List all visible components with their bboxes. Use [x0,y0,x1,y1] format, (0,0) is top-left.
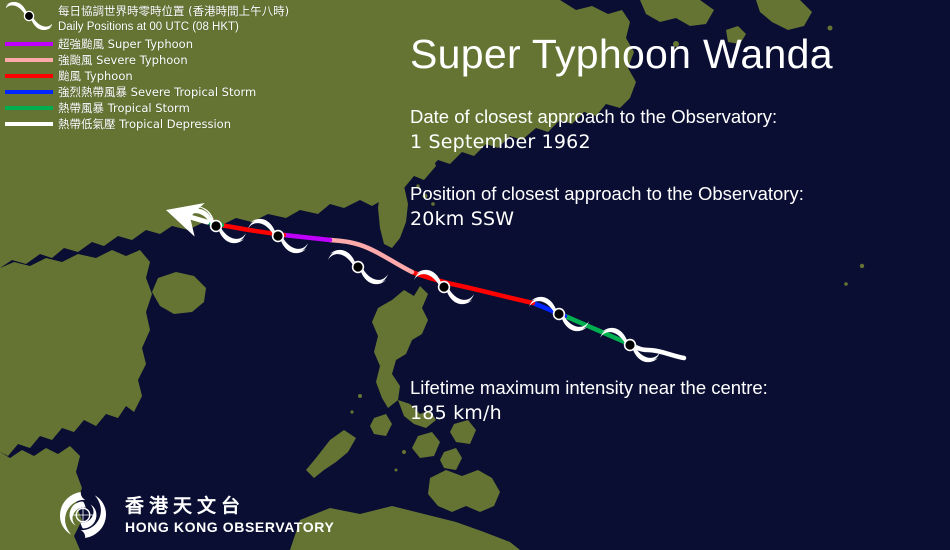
legend-swatch-cell [0,42,58,46]
legend-item-severe-tropical-storm[interactable]: 強烈熱帶風暴 Severe Tropical Storm [0,84,365,100]
legend-item-label-en: Severe Typhoon [96,53,187,67]
legend-item-label-en: Super Typhoon [108,37,193,51]
legend-item-label: 超強颱風 Super Typhoon [58,37,193,52]
legend-item-tropical-depression[interactable]: 熱帶低氣壓 Tropical Depression [0,116,365,132]
legend-item-label-cn: 強颱風 [58,53,93,67]
tropical-cyclone-icon [6,2,52,30]
land-islet-spratly-1 [358,394,362,398]
land-islet-spratly-3 [402,450,406,454]
legend-panel: 每日協調世界時零時位置 (香港時間上午八時) Daily Positions a… [0,0,365,136]
legend-row-daily-positions: 每日協調世界時零時位置 (香港時間上午八時) Daily Positions a… [0,2,365,36]
page-title: Super Typhoon Wanda [410,30,940,78]
legend-item-label-en: Severe Tropical Storm [131,85,257,99]
legend-swatch-cell [0,90,58,94]
legend-item-typhoon[interactable]: 颱風 Typhoon [0,68,365,84]
legend-color-swatch [5,42,53,46]
legend-daily-positions-label-cn: 每日協調世界時零時位置 (香港時間上午八時) [58,3,289,19]
closest-approach-position-value: 20km SSW [410,206,940,232]
legend-swatch-cell [0,2,58,30]
legend-color-swatch [5,106,53,110]
legend-color-swatch [5,58,53,62]
legend-item-label: 熱帶風暴 Tropical Storm [58,101,190,116]
legend-swatch-cell [0,106,58,110]
legend-item-label-en: Tropical Depression [119,117,231,131]
closest-approach-date-block: Date of closest approach to the Observat… [410,104,940,155]
closest-approach-date-value: 1 September 1962 [410,129,940,155]
legend-item-label-cn: 超強颱風 [58,37,104,51]
land-islet-spratly-2 [350,410,353,413]
hko-branding: 香港天文台 HONG KONG OBSERVATORY [55,487,334,543]
legend-swatch-cell [0,122,58,126]
typhoon-track-map: 每日協調世界時零時位置 (香港時間上午八時) Daily Positions a… [0,0,950,550]
hko-name-group: 香港天文台 HONG KONG OBSERVATORY [125,495,334,536]
legend-color-swatch [5,122,53,126]
land-ryukyu-islet-4 [860,264,864,268]
legend-daily-positions-label-en: Daily Positions at 00 UTC (08 HKT) [58,19,289,35]
legend-item-label: 颱風 Typhoon [58,69,133,84]
legend-item-label-cn: 熱帶風暴 [58,101,104,115]
legend-item-severe-typhoon[interactable]: 強颱風 Severe Typhoon [0,52,365,68]
legend-item-label: 熱帶低氣壓 Tropical Depression [58,117,231,132]
legend-swatch-cell [0,74,58,78]
legend-color-swatch [5,90,53,94]
legend-daily-position-texts: 每日協調世界時零時位置 (香港時間上午八時) Daily Positions a… [58,2,289,35]
closest-approach-position-label: Position of closest approach to the Obse… [410,181,940,206]
closest-approach-date-label: Date of closest approach to the Observat… [410,104,940,129]
legend-item-label-cn: 熱帶低氣壓 [58,117,116,131]
legend-item-label-en: Tropical Storm [108,101,190,115]
land-islet-spratly-5 [466,494,469,497]
closest-approach-position-block: Position of closest approach to the Obse… [410,181,940,232]
land-islet-spratly-4 [395,469,398,472]
legend-color-swatch [5,74,53,78]
storm-info-panel: Super Typhoon Wanda Date of closest appr… [410,30,940,258]
max-intensity-block: Lifetime maximum intensity near the cent… [410,375,940,426]
legend-item-label-en: Typhoon [85,69,133,83]
legend-item-label-cn: 颱風 [58,69,81,83]
hko-name-en: HONG KONG OBSERVATORY [125,518,334,536]
max-intensity-label: Lifetime maximum intensity near the cent… [410,375,940,400]
max-intensity-value: 185 km/h [410,400,940,426]
legend-item-super-typhoon[interactable]: 超強颱風 Super Typhoon [0,36,365,52]
hko-swirl-logo [55,487,111,543]
land-ryukyu-islet-5 [844,282,848,286]
legend-item-label: 強颱風 Severe Typhoon [58,53,188,68]
legend-item-label: 強烈熱帶風暴 Severe Tropical Storm [58,85,256,100]
hko-name-cn: 香港天文台 [125,495,334,518]
legend-swatch-cell [0,58,58,62]
legend-item-tropical-storm[interactable]: 熱帶風暴 Tropical Storm [0,100,365,116]
legend-item-label-cn: 強烈熱帶風暴 [58,85,127,99]
